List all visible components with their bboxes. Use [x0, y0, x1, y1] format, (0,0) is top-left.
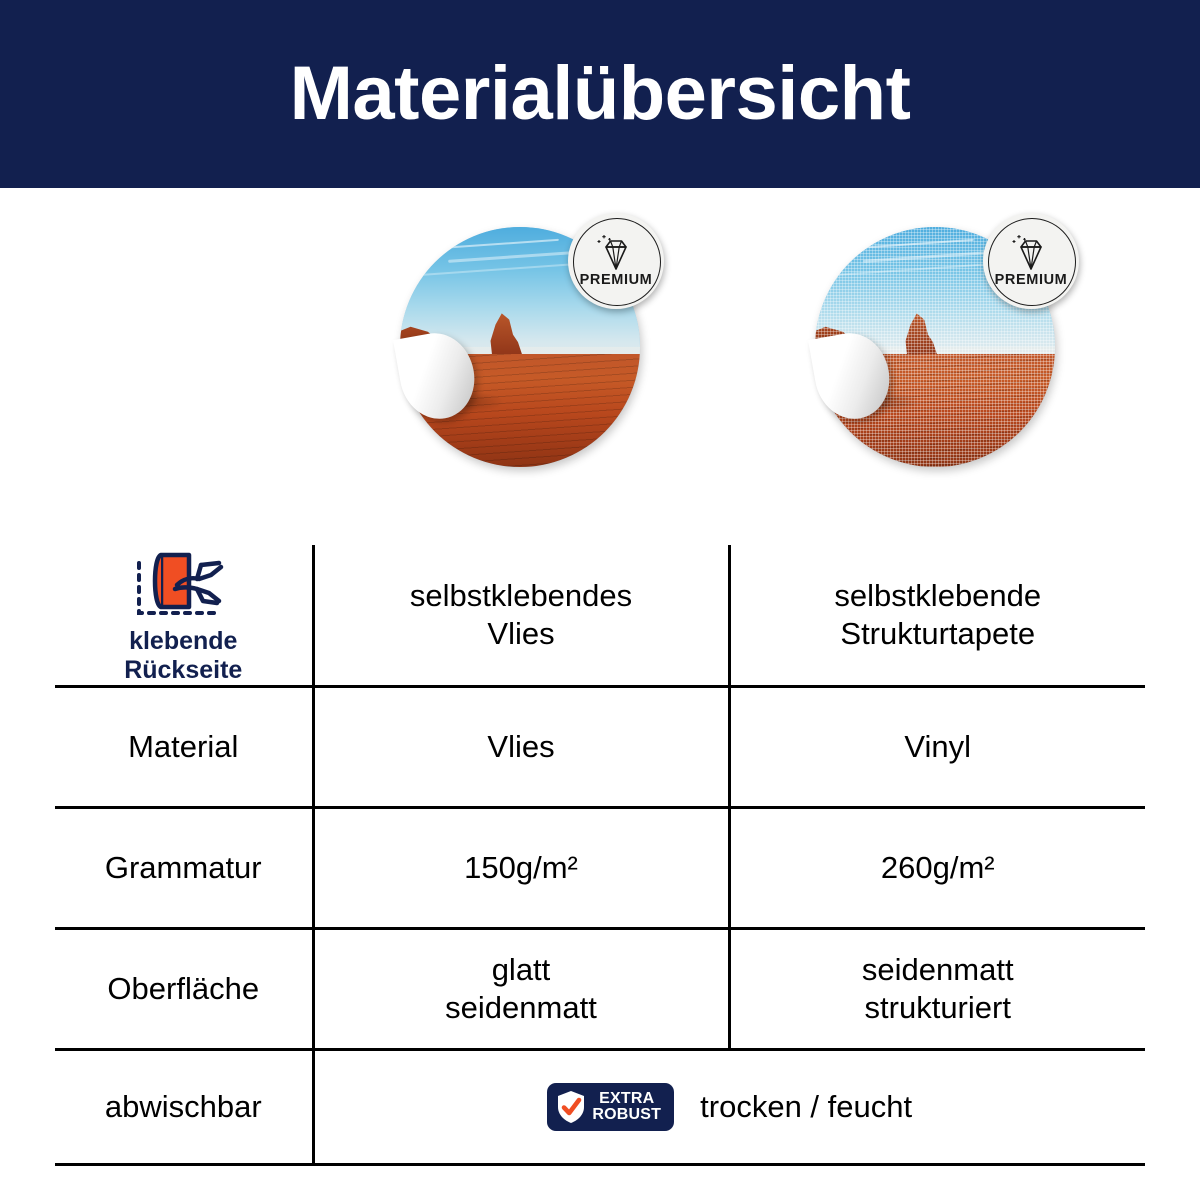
- cell-grammatur-struktur: 260g/m²: [729, 808, 1145, 929]
- table-row: klebende Rückseite selbstklebendes Vlies…: [55, 545, 1145, 687]
- table-row: Oberfläche glatt seidenmatt seidenmatt s…: [55, 929, 1145, 1050]
- diamond-icon: [1009, 231, 1053, 275]
- row-label-material: Material: [55, 687, 313, 808]
- adhesive-label-line2: Rückseite: [124, 656, 242, 685]
- header-vlies-line1: selbstklebendes: [325, 577, 718, 615]
- premium-badge-label: PREMIUM: [983, 272, 1079, 288]
- header-struktur-line2: Strukturtapete: [741, 615, 1136, 653]
- cell-oberflaeche-vlies: glatt seidenmatt: [313, 929, 729, 1050]
- header-cell-strukturtapete: selbstklebende Strukturtapete: [729, 545, 1145, 687]
- cell-material-struktur: Vinyl: [729, 687, 1145, 808]
- cell-grammatur-vlies: 150g/m²: [313, 808, 729, 929]
- oberflaeche-struktur-line2: strukturiert: [741, 989, 1136, 1027]
- header-cell-vlies: selbstklebendes Vlies: [313, 545, 729, 687]
- cell-material-vlies: Vlies: [313, 687, 729, 808]
- premium-badge: PREMIUM: [568, 213, 664, 309]
- product-preview-strukturtapete: PREMIUM: [815, 205, 1075, 470]
- header-struktur-line1: selbstklebende: [741, 577, 1136, 615]
- table-row: abwischbar EXTRA ROBUST trocken / feucht: [55, 1050, 1145, 1165]
- cloud-streak: [825, 239, 974, 251]
- premium-badge: PREMIUM: [983, 213, 1079, 309]
- oberflaeche-struktur-line1: seidenmatt: [741, 951, 1136, 989]
- table-row: Material Vlies Vinyl: [55, 687, 1145, 808]
- header-vlies-line2: Vlies: [325, 615, 718, 653]
- row-label-abwischbar: abwischbar: [55, 1050, 313, 1165]
- peeling-adhesive-hand-icon: [131, 545, 235, 623]
- cell-abwischbar-value: EXTRA ROBUST trocken / feucht: [313, 1050, 1145, 1165]
- abwischbar-value-text: trocken / feucht: [700, 1088, 912, 1126]
- material-comparison-table: klebende Rückseite selbstklebendes Vlies…: [55, 545, 1145, 1166]
- adhesive-label-line1: klebende: [124, 627, 242, 656]
- oberflaeche-vlies-line1: glatt: [325, 951, 718, 989]
- cloud-streak: [410, 239, 559, 251]
- shield-check-icon: [556, 1090, 586, 1124]
- diamond-icon: [594, 231, 638, 275]
- product-image-row: PREMIUM: [0, 205, 1200, 495]
- table-row: Grammatur 150g/m² 260g/m²: [55, 808, 1145, 929]
- page-title: Materialübersicht: [290, 56, 911, 132]
- extra-robust-badge: EXTRA ROBUST: [547, 1083, 674, 1131]
- row-label-grammatur: Grammatur: [55, 808, 313, 929]
- row-label-oberflaeche: Oberfläche: [55, 929, 313, 1050]
- adhesive-backing-cell: klebende Rückseite: [55, 545, 313, 687]
- premium-badge-label: PREMIUM: [568, 272, 664, 288]
- page-header: Materialübersicht: [0, 0, 1200, 188]
- robust-label-line1: EXTRA: [592, 1091, 661, 1107]
- product-preview-vlies: PREMIUM: [400, 205, 660, 470]
- robust-label-line2: ROBUST: [592, 1107, 661, 1123]
- oberflaeche-vlies-line2: seidenmatt: [325, 989, 718, 1027]
- cell-oberflaeche-struktur: seidenmatt strukturiert: [729, 929, 1145, 1050]
